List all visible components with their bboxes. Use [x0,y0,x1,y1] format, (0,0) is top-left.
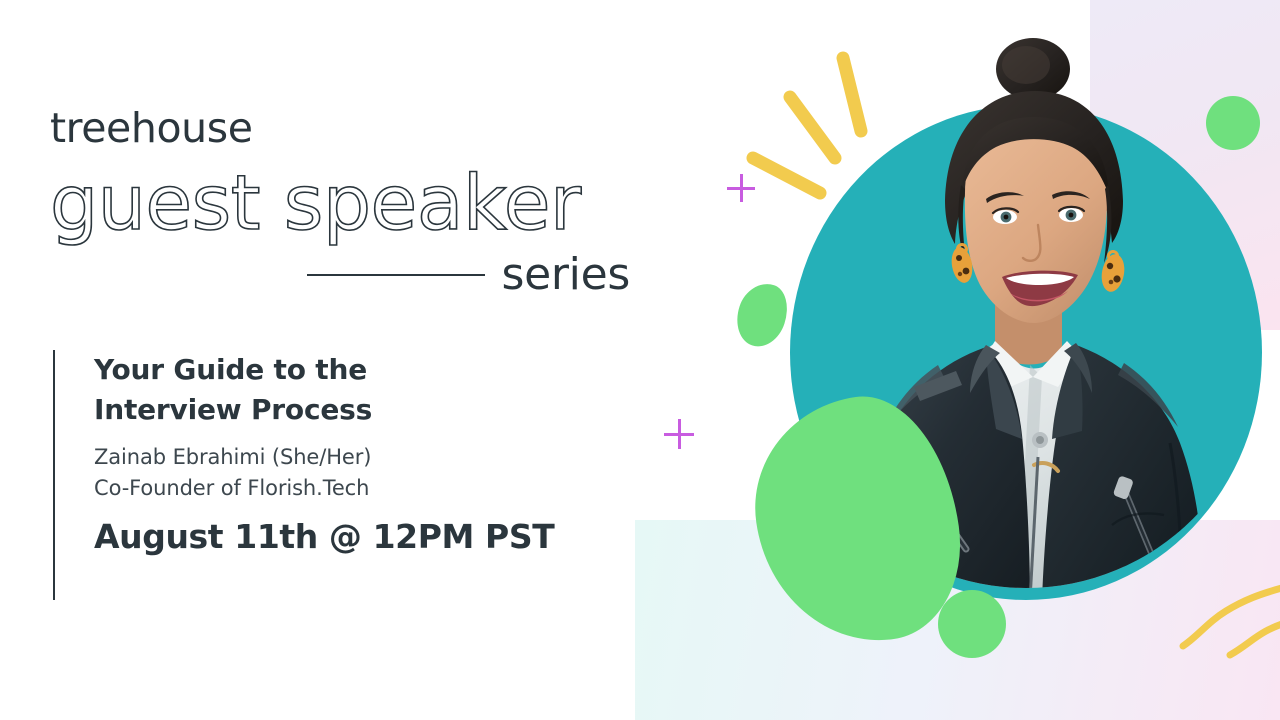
series-label: series [501,253,630,297]
promo-graphic: treehouse guest speaker series Your Guid… [0,0,1280,720]
speaker-role: Co-Founder of Florish.Tech [94,473,554,505]
session-heading: Your Guide to the Interview Process [94,350,554,430]
speaker-info: Zainab Ebrahimi (She/Her) Co-Founder of … [94,442,554,505]
headline-outline: guest speaker [50,165,650,241]
brand-name: treehouse [50,108,650,149]
session-details: Your Guide to the Interview Process Zain… [53,350,554,600]
brand-lockup: treehouse guest speaker series [50,108,650,297]
series-row: series [50,253,630,297]
plus-mark-top-icon [727,174,755,202]
green-blob-small-shape [729,277,794,353]
session-datetime: August 11th @ 12PM PST [94,519,554,555]
green-circle-bottom-shape [938,590,1006,658]
plus-mark-middle-icon [664,419,694,449]
speaker-name: Zainab Ebrahimi (She/Her) [94,442,554,474]
series-divider-rule [307,274,485,276]
squiggle-strokes-icon [1150,580,1280,720]
